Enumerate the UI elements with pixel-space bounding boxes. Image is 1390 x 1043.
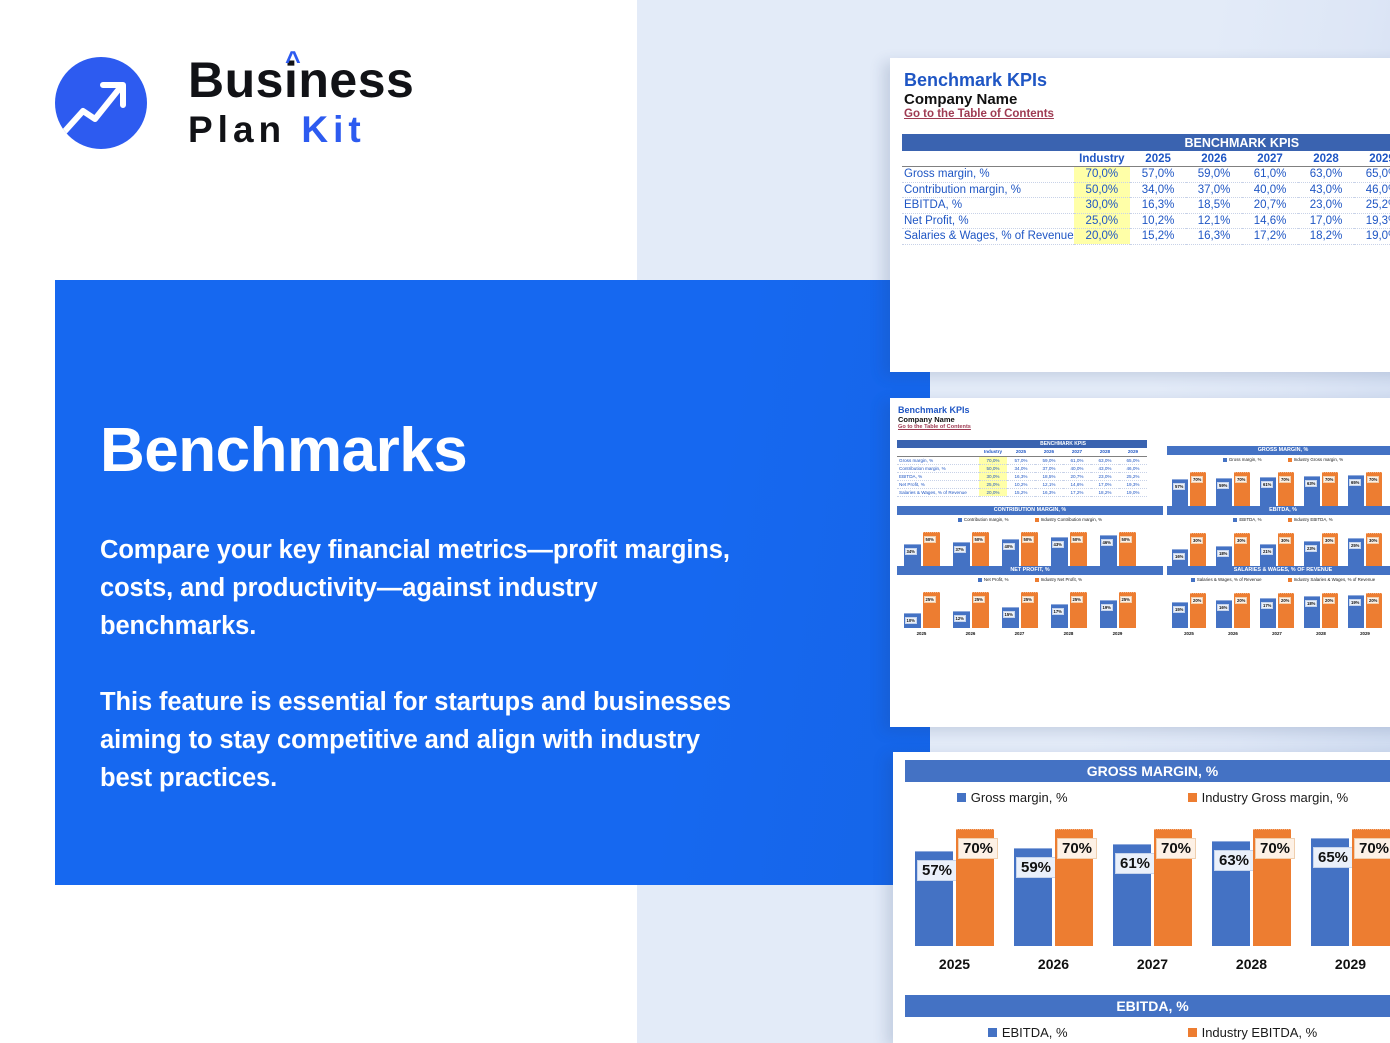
kpi-table: BENCHMARK KPISIndustry202520262027202820… [897,440,1147,497]
bar-own[interactable]: 61% [1113,844,1151,946]
bar-own[interactable]: 59% [1216,478,1232,508]
legend-swatch-icon [1188,793,1197,802]
legend-label: Industry EBITDA, % [1202,1025,1318,1040]
kpi-year-value: 18,2% [1298,229,1354,245]
hero-paragraph-1: Compare your key financial metrics—profi… [100,531,740,645]
kpi-year-value: 65,0% [1119,456,1147,464]
kpi-industry-value: 50,0% [1074,182,1131,198]
kpi-header-row: Industry20252026202720282029 [902,151,1390,167]
bar-own[interactable]: 65% [1348,475,1364,508]
bar-label-own: 17% [1261,602,1273,609]
legend-item-own[interactable]: Net Profit, % [978,577,1009,582]
bar-own[interactable]: 21% [1260,544,1276,568]
bar-label-own: 10% [905,617,917,624]
chart-group: 61%70%2027 [1103,816,1202,972]
chart-group: 19%25%2029 [1093,588,1142,636]
table-row[interactable]: Net Profit, %25,0%10,2%12,1%14,6%17,0%19… [897,480,1147,488]
kpi-year-value: 40,0% [1242,182,1298,198]
x-axis-tick: 2028 [1044,631,1093,636]
kpi-year-value: 17,2% [1242,229,1298,245]
kpi-year-value: 37,0% [1186,182,1242,198]
chart-group: 18%20%2028 [1299,588,1343,636]
chart-legend: EBITDA, %Industry EBITDA, % [1167,515,1390,524]
bar-label-own: 17% [1052,608,1064,615]
kpi-year-value: 57,0% [1130,167,1186,183]
table-row[interactable]: Salaries & Wages, % of Revenue20,0%15,2%… [897,488,1147,496]
kpi-industry-value: 20,0% [1074,229,1131,245]
bar-label-own: 23% [1305,545,1317,552]
bar-industry[interactable]: 20% [1366,593,1382,628]
bar-label-industry: 25% [1120,596,1132,603]
legend-label: Industry Gross margin, % [1202,790,1349,805]
chart-group: 12%25%2026 [946,588,995,636]
bar-own[interactable]: 18% [1304,596,1320,628]
kpi-year-value: 43,0% [1298,182,1354,198]
kpi-col-label [902,151,1074,167]
legend-swatch-icon [1035,518,1039,522]
brand-wordmark: Business Plan Kit [188,52,414,152]
kpi-table-wrapper: BENCHMARK KPISIndustry202520262027202820… [897,440,1147,497]
bar-label-industry: 25% [1071,596,1083,603]
table-row[interactable]: Gross margin, %70,0%57,0%59,0%61,0%63,0%… [897,456,1147,464]
x-axis-tick: 2025 [1167,631,1211,636]
bar-label-own: 59% [1217,482,1229,489]
bar-label-industry: 30% [1323,537,1335,544]
bar-industry[interactable]: 20% [1278,593,1294,628]
brand-logo[interactable]: Business Plan Kit [55,52,435,157]
chart-title: EBITDA, % [1167,506,1390,515]
kpi-table-band: BENCHMARK KPIS [897,440,1147,448]
bar-label-industry: 20% [1279,597,1291,604]
x-axis-tick: 2028 [1299,631,1343,636]
chart-title: EBITDA, % [905,995,1390,1017]
bar-label-own: 46% [1101,539,1113,546]
x-axis-tick: 2028 [1202,956,1301,972]
bar-industry[interactable]: 20% [1190,593,1206,628]
kpi-year-value: 14,6% [1063,480,1091,488]
bar-industry[interactable]: 25% [1070,592,1087,628]
brand-line-plankit: Plan Kit [188,108,414,152]
legend-swatch-icon [1233,518,1237,522]
bar-own[interactable]: 63% [1304,476,1320,508]
kpi-year-value: 14,6% [1242,213,1298,229]
bar-own[interactable]: 10% [904,613,921,628]
kpi-year-value: 16,3% [1186,229,1242,245]
legend-item-own[interactable]: Gross margin, % [1223,457,1262,462]
table-of-contents-link[interactable]: Go to the Table of Contents [898,424,971,430]
bar-industry[interactable]: 50% [1021,532,1038,568]
chart-legend: Salaries & Wages, % of RevenueIndustry S… [1167,575,1390,584]
bar-label-industry: 30% [1279,537,1291,544]
bar-label-own: 59% [1016,857,1056,878]
bar-label-own: 18% [1305,600,1317,607]
bar-industry[interactable]: 70% [1278,472,1294,508]
kpi-year-value: 10,2% [1130,213,1186,229]
bar-own[interactable]: 12% [953,611,970,628]
bar-label-industry: 30% [1191,537,1203,544]
kpi-year-value: 17,2% [1063,488,1091,496]
kpi-year-value: 23,0% [1298,198,1354,214]
kpi-row-label: Net Profit, % [897,480,979,488]
kpi-year-value: 20,7% [1242,198,1298,214]
bar-label-industry: 25% [973,596,985,603]
chart-title: GROSS MARGIN, % [905,760,1390,782]
bar-label-industry: 30% [1367,537,1379,544]
bar-own[interactable]: 57% [1172,479,1188,508]
kpi-year-value: 34,0% [1007,464,1035,472]
bar-own[interactable]: 63% [1212,841,1250,946]
chart-plot-area: 57%70%202559%70%202661%70%202763%70%2028… [905,812,1390,972]
legend-swatch-icon [1288,458,1292,462]
bar-label-industry: 70% [1191,476,1203,483]
bar-industry[interactable]: 70% [956,829,994,946]
mini-chart-gross-margin[interactable]: GROSS MARGIN, %Gross margin, %Industry G… [1167,446,1390,514]
bar-label-own: 25% [1349,542,1361,549]
legend-item-industry[interactable]: Industry EBITDA, % [1188,1025,1318,1040]
kpi-table-band: BENCHMARK KPIS [902,134,1390,151]
bar-industry[interactable]: 30% [1190,533,1206,568]
kpi-year-value: 25,2% [1354,198,1390,214]
legend-item-own[interactable]: Gross margin, % [957,790,1068,805]
x-axis-tick: 2029 [1301,956,1390,972]
worksheet-company: Company Name [898,415,971,424]
worksheet-preview-top[interactable]: Benchmark KPIs Company Name Go to the Ta… [890,58,1390,372]
legend-label: Gross margin, % [1229,457,1262,462]
kpi-col-1: Industry [979,448,1007,456]
kpi-year-value: 18,5% [1035,472,1063,480]
kpi-year-value: 19,0% [1354,229,1390,245]
kpi-row-label: Contribution margin, % [902,182,1074,198]
x-axis-tick: 2027 [995,631,1044,636]
bar-industry[interactable]: 30% [1366,533,1382,568]
kpi-industry-value: 30,0% [979,472,1007,480]
bar-label-industry: 20% [1367,597,1379,604]
legend-label: Industry Salaries & Wages, % of Revenue [1294,577,1376,582]
legend-item-own[interactable]: EBITDA, % [988,1025,1068,1040]
chart-title: NET PROFIT, % [897,566,1163,575]
kpi-year-value: 23,0% [1091,472,1119,480]
bar-label-own: 43% [1052,541,1064,548]
bar-label-own: 21% [1261,548,1273,555]
chart-group: 15%20%2025 [1167,588,1211,636]
bar-own[interactable]: 15% [1172,602,1188,628]
legend-label: Industry EBITDA, % [1294,517,1333,522]
kpi-year-value: 10,2% [1007,480,1035,488]
kpi-row-label: Net Profit, % [902,213,1074,229]
kpi-col-1: Industry [1074,151,1131,167]
chart-group: 17%20%2027 [1255,588,1299,636]
chart-group: 10%25%2025 [897,588,946,636]
bar-industry[interactable]: 70% [1322,472,1338,508]
bar-label-industry: 70% [1367,476,1379,483]
worksheet-title: Benchmark KPIs [898,405,971,415]
chart-group: 57%70%2025 [905,816,1004,972]
bar-industry[interactable]: 70% [1154,829,1192,946]
kpi-col-label [897,448,979,456]
x-axis-tick: 2029 [1343,631,1387,636]
kpi-col-3: 2026 [1186,151,1242,167]
bar-label-own: 40% [1003,543,1015,550]
table-row[interactable]: Contribution margin, %50,0%34,0%37,0%40,… [902,182,1390,198]
kpi-row-label: Contribution margin, % [897,464,979,472]
kpi-year-value: 57,0% [1007,456,1035,464]
bar-industry[interactable]: 20% [1234,593,1250,628]
mini-chart-salaries-wages[interactable]: SALARIES & WAGES, % OF REVENUESalaries &… [1167,566,1390,634]
bar-own[interactable]: 61% [1260,477,1276,508]
x-axis-tick: 2026 [946,631,995,636]
legend-item-own[interactable]: Contribution margin, % [958,517,1009,522]
legend-item-industry[interactable]: Industry Net Profit, % [1035,577,1082,582]
legend-label: Salaries & Wages, % of Revenue [1197,577,1262,582]
chart-ebitda[interactable]: EBITDA, %EBITDA, %Industry EBITDA, % [905,995,1390,1043]
bar-label-industry: 50% [973,536,985,543]
kpi-industry-value: 70,0% [979,456,1007,464]
kpi-industry-value: 25,0% [979,480,1007,488]
kpi-col-2: 2025 [1130,151,1186,167]
bar-label-industry: 70% [958,838,998,859]
kpi-year-value: 20,7% [1063,472,1091,480]
legend-label: Industry Net Profit, % [1041,577,1082,582]
worksheet-preview-bottom[interactable]: GROSS MARGIN, %Gross margin, %Industry G… [893,752,1390,1043]
x-axis-tick: 2026 [1211,631,1255,636]
bar-own[interactable]: 18% [1216,546,1232,568]
kpi-industry-value: 30,0% [1074,198,1131,214]
chart-plot-area: 10%25%202512%25%202615%25%202717%25%2028… [897,584,1163,636]
bar-industry[interactable]: 25% [923,592,940,628]
bar-label-industry: 70% [1235,476,1247,483]
kpi-year-value: 19,0% [1119,488,1147,496]
kpi-col-4: 2027 [1063,448,1091,456]
legend-swatch-icon [978,578,982,582]
table-row[interactable]: Gross margin, %70,0%57,0%59,0%61,0%63,0%… [902,167,1390,183]
legend-item-own[interactable]: Salaries & Wages, % of Revenue [1191,577,1262,582]
kpi-year-value: 46,0% [1119,464,1147,472]
x-axis-tick: 2025 [897,631,946,636]
chart-group: 19%20%2029 [1343,588,1387,636]
hero-paragraph-2: This feature is essential for startups a… [100,683,740,797]
legend-swatch-icon [1223,458,1227,462]
table-row[interactable]: Salaries & Wages, % of Revenue20,0%15,2%… [902,229,1390,245]
kpi-col-6: 2029 [1119,448,1147,456]
kpi-row-label: Salaries & Wages, % of Revenue [902,229,1074,245]
legend-label: Industry Contribution margin, % [1041,517,1103,522]
kpi-year-value: 61,0% [1063,456,1091,464]
slide-canvas: Business Plan Kit Benchmarks Compare you… [0,0,1390,1043]
kpi-col-2: 2025 [1007,448,1035,456]
kpi-year-value: 63,0% [1091,456,1119,464]
legend-label: Contribution margin, % [964,517,1009,522]
kpi-col-6: 2029 [1354,151,1390,167]
bar-industry[interactable]: 25% [972,592,989,628]
bar-industry[interactable]: 25% [1021,592,1038,628]
bar-industry[interactable]: 70% [1055,829,1093,946]
bar-industry[interactable]: 70% [1234,472,1250,508]
chart-group: 59%70%2026 [1004,816,1103,972]
bar-own[interactable]: 59% [1014,848,1052,946]
kpi-header-row: Industry20252026202720282029 [897,448,1147,456]
kpi-year-value: 59,0% [1186,167,1242,183]
kpi-row-label: Gross margin, % [897,456,979,464]
legend-item-industry[interactable]: Industry Contribution margin, % [1035,517,1103,522]
bar-own[interactable]: 65% [1311,838,1349,946]
kpi-year-value: 43,0% [1091,464,1119,472]
bar-industry[interactable]: 30% [1278,533,1294,568]
bar-label-industry: 20% [1323,597,1335,604]
bar-label-industry: 70% [1279,476,1291,483]
legend-item-industry[interactable]: Industry Gross margin, % [1288,457,1344,462]
mini-chart-net-profit[interactable]: NET PROFIT, %Net Profit, %Industry Net P… [897,566,1163,634]
kpi-year-value: 16,3% [1035,488,1063,496]
mini-chart-ebitda[interactable]: EBITDA, %EBITDA, %Industry EBITDA, %16%3… [1167,506,1390,574]
bar-industry[interactable]: 70% [1253,829,1291,946]
bar-label-own: 34% [905,548,917,555]
kpi-year-value: 19,3% [1354,213,1390,229]
bar-label-industry: 70% [1057,838,1097,859]
circumflex-accent-icon: i [284,52,298,108]
bar-own[interactable]: 57% [915,851,953,946]
bar-industry[interactable]: 70% [1190,472,1206,508]
bar-label-industry: 70% [1354,838,1390,859]
kpi-year-value: 19,3% [1119,480,1147,488]
bar-label-industry: 30% [1235,537,1247,544]
chart-gross-margin[interactable]: GROSS MARGIN, %Gross margin, %Industry G… [905,760,1390,990]
chart-group: 65%70%2029 [1301,816,1390,972]
legend-swatch-icon [1035,578,1039,582]
bar-own[interactable]: 16% [1216,600,1232,628]
kpi-band-title: BENCHMARK KPIS [979,440,1147,448]
legend-label: Gross margin, % [971,790,1068,805]
worksheet-company: Company Name [904,91,1054,108]
bar-label-industry: 20% [1235,597,1247,604]
bar-label-own: 18% [1217,550,1229,557]
hero-block: Benchmarks Compare your key financial me… [100,415,740,797]
bar-label-own: 61% [1261,481,1273,488]
legend-swatch-icon [1191,578,1195,582]
kpi-year-value: 46,0% [1354,182,1390,198]
bar-label-industry: 70% [1156,838,1196,859]
x-axis-tick: 2027 [1255,631,1299,636]
legend-swatch-icon [957,793,966,802]
bar-own[interactable]: 40% [1002,539,1019,568]
bar-own[interactable]: 43% [1051,537,1068,568]
legend-swatch-icon [958,518,962,522]
kpi-year-value: 12,1% [1186,213,1242,229]
legend-label: Industry Gross margin, % [1294,457,1344,462]
x-axis-tick: 2027 [1103,956,1202,972]
table-row[interactable]: EBITDA, %30,0%16,3%18,5%20,7%23,0%25,2% [902,198,1390,214]
bar-label-industry: 20% [1191,597,1203,604]
chart-group: 15%25%2027 [995,588,1044,636]
worksheet-preview-mid[interactable]: Benchmark KPIs Company Name Go to the Ta… [890,398,1390,727]
page-title: Benchmarks [100,415,740,487]
chart-title: SALARIES & WAGES, % OF REVENUE [1167,566,1390,575]
bar-own[interactable]: 23% [1304,541,1320,568]
chart-legend: Gross margin, %Industry Gross margin, % [1167,455,1390,464]
bar-label-industry: 50% [1022,536,1034,543]
growth-arrow-icon [55,57,147,149]
bar-label-own: 37% [954,546,966,553]
mini-chart-contribution-margin[interactable]: CONTRIBUTION MARGIN, %Contribution margi… [897,506,1163,574]
table-row[interactable]: Net Profit, %25,0%10,2%12,1%14,6%17,0%19… [902,213,1390,229]
worksheet-title: Benchmark KPIs [904,70,1054,91]
bar-label-industry: 70% [1323,476,1335,483]
legend-label: EBITDA, % [1002,1025,1068,1040]
bar-own[interactable]: 34% [904,544,921,568]
kpi-year-value: 18,5% [1186,198,1242,214]
bar-industry[interactable]: 20% [1322,593,1338,628]
bar-own[interactable]: 17% [1051,604,1068,628]
kpi-col-5: 2028 [1298,151,1354,167]
bar-own[interactable]: 37% [953,542,970,568]
bar-industry[interactable]: 50% [972,532,989,568]
kpi-year-value: 34,0% [1130,182,1186,198]
bar-own[interactable]: 15% [1002,607,1019,628]
bar-industry[interactable]: 50% [923,532,940,568]
kpi-row-label: Gross margin, % [902,167,1074,183]
legend-swatch-icon [1288,518,1292,522]
bar-label-own: 65% [1313,847,1353,868]
chart-group: 17%25%2028 [1044,588,1093,636]
brand-line-business: Business [188,52,414,108]
table-of-contents-link[interactable]: Go to the Table of Contents [904,108,1054,120]
kpi-year-value: 59,0% [1035,456,1063,464]
legend-item-own[interactable]: EBITDA, % [1233,517,1261,522]
bar-own[interactable]: 46% [1100,535,1117,568]
bar-label-own: 63% [1305,480,1317,487]
x-axis-tick: 2025 [905,956,1004,972]
chart-legend: Net Profit, %Industry Net Profit, % [897,575,1163,584]
bar-industry[interactable]: 30% [1234,533,1250,568]
chart-legend: Contribution margin, %Industry Contribut… [897,515,1163,524]
bar-own[interactable]: 25% [1348,538,1364,568]
legend-swatch-icon [988,1028,997,1037]
legend-label: Net Profit, % [984,577,1009,582]
table-row[interactable]: EBITDA, %30,0%16,3%18,5%20,7%23,0%25,2% [897,472,1147,480]
chart-plot-area: 15%20%202516%20%202617%20%202718%20%2028… [1167,584,1390,636]
kpi-col-5: 2028 [1091,448,1119,456]
legend-label: EBITDA, % [1239,517,1261,522]
bar-industry[interactable]: 70% [1352,829,1390,946]
bar-label-own: 16% [1173,553,1185,560]
bar-industry[interactable]: 30% [1322,533,1338,568]
kpi-band-title: BENCHMARK KPIS [1074,134,1390,151]
bar-industry[interactable]: 25% [1119,592,1136,628]
kpi-year-value: 63,0% [1298,167,1354,183]
kpi-year-value: 25,2% [1119,472,1147,480]
bar-label-industry: 70% [1255,838,1295,859]
bar-industry[interactable]: 70% [1366,472,1382,508]
kpi-year-value: 65,0% [1354,167,1390,183]
bar-label-industry: 25% [924,596,936,603]
bar-label-industry: 50% [1071,536,1083,543]
legend-swatch-icon [1188,1028,1197,1037]
kpi-row-label: EBITDA, % [902,198,1074,214]
bar-own[interactable]: 19% [1100,600,1117,628]
chart-group: 16%20%2026 [1211,588,1255,636]
legend-item-industry[interactable]: Industry Gross margin, % [1188,790,1349,805]
bar-own[interactable]: 19% [1348,595,1364,628]
kpi-industry-value: 50,0% [979,464,1007,472]
legend-item-industry[interactable]: Industry Salaries & Wages, % of Revenue [1288,577,1376,582]
legend-item-industry[interactable]: Industry EBITDA, % [1288,517,1333,522]
bar-industry[interactable]: 50% [1119,532,1136,568]
kpi-year-value: 12,1% [1035,480,1063,488]
table-row[interactable]: Contribution margin, %50,0%34,0%37,0%40,… [897,464,1147,472]
bar-label-own: 19% [1101,604,1113,611]
bar-industry[interactable]: 50% [1070,532,1087,568]
bar-label-own: 16% [1217,604,1229,611]
bar-own[interactable]: 17% [1260,598,1276,628]
